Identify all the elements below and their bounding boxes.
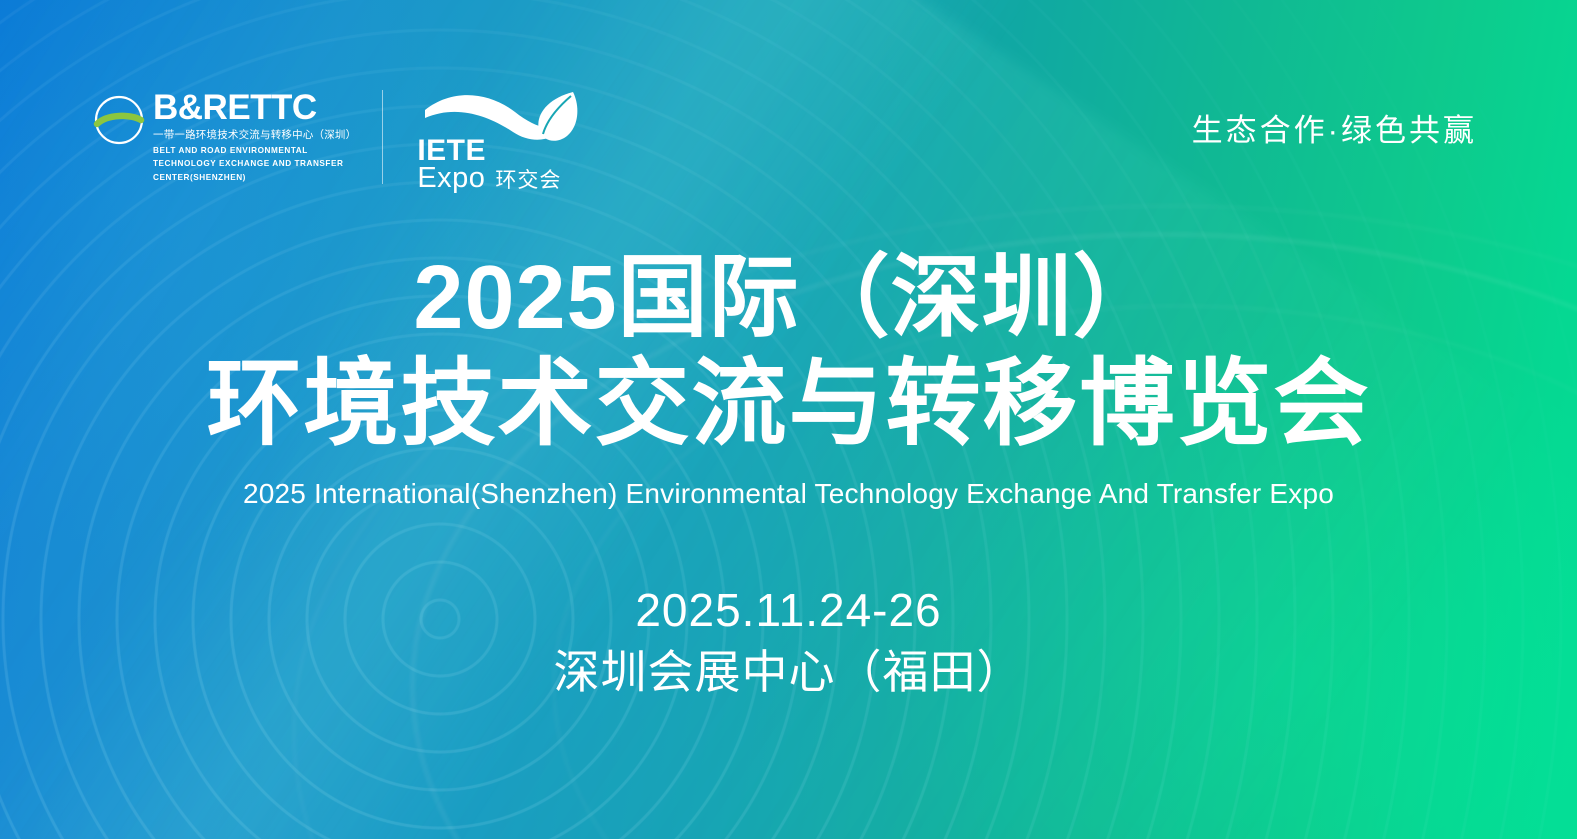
iete-expo-word: Expo: [417, 164, 485, 193]
title-line-2: 环境技术交流与转移博览会: [0, 351, 1577, 457]
banner-slogan: 生态合作·绿色共赢: [1192, 105, 1477, 150]
event-info: 2025.11.24-26 深圳会展中心（福田）: [0, 582, 1577, 700]
event-venue: 深圳会展中心（福田）: [0, 644, 1577, 700]
iete-subwordmark-row: Expo 环交会: [417, 164, 561, 193]
brettc-english-line-1: BELT AND ROAD ENVIRONMENTAL: [153, 145, 356, 157]
brettc-english-line-2: TECHNOLOGY EXCHANGE AND TRANSFER: [153, 158, 356, 170]
title-line-1: 2025国际（深圳）: [0, 250, 1577, 347]
event-date: 2025.11.24-26: [0, 582, 1577, 638]
brettc-wordmark: B&RETTC: [153, 90, 356, 125]
brettc-text-block: B&RETTC 一带一路环境技术交流与转移中心（深圳） BELT AND ROA…: [153, 90, 356, 184]
brettc-english-line-3: CENTER(SHENZHEN): [153, 172, 356, 184]
event-banner: B&RETTC 一带一路环境技术交流与转移中心（深圳） BELT AND ROA…: [0, 0, 1577, 839]
banner-header: B&RETTC 一带一路环境技术交流与转移中心（深圳） BELT AND ROA…: [0, 0, 1577, 220]
iete-expo-logo: IETE Expo 环交会: [417, 90, 587, 190]
subtitle-english: 2025 International(Shenzhen) Environment…: [0, 478, 1577, 510]
brettc-logo: B&RETTC 一带一路环境技术交流与转移中心（深圳） BELT AND ROA…: [93, 90, 383, 184]
globe-circle-mark-icon: [93, 94, 145, 146]
logo-group: B&RETTC 一带一路环境技术交流与转移中心（深圳） BELT AND ROA…: [93, 90, 587, 190]
brettc-chinese-name: 一带一路环境技术交流与转移中心（深圳）: [153, 129, 356, 143]
iete-chinese-short: 环交会: [495, 170, 561, 191]
banner-main-content: 2025国际（深圳） 环境技术交流与转移博览会 2025 Internation…: [0, 250, 1577, 700]
